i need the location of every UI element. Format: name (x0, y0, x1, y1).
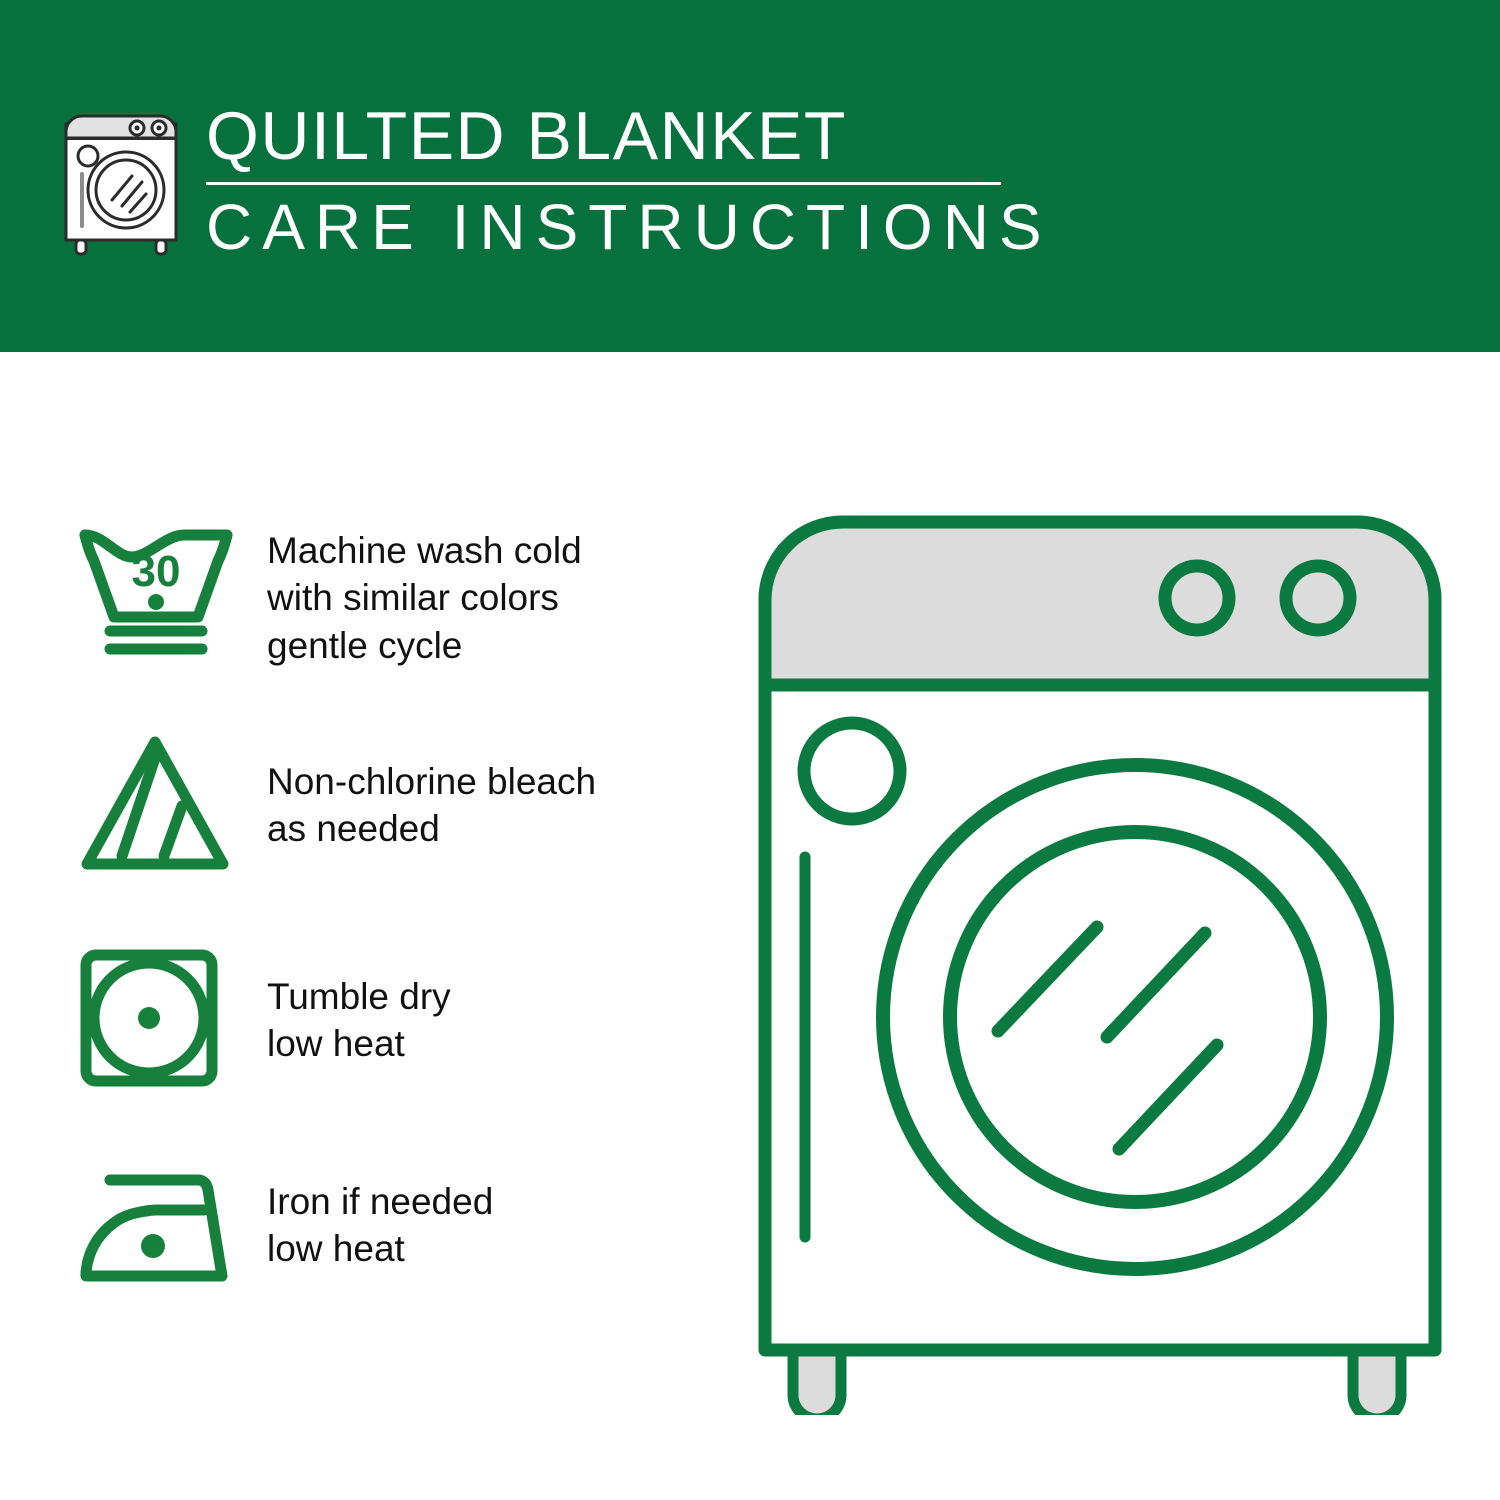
header-title-group: QUILTED BLANKET CARE INSTRUCTIONS (204, 98, 1060, 259)
list-item: 30 Machine wash cold with similar colors… (70, 505, 730, 720)
washing-machine-icon (60, 98, 182, 260)
page-subtitle: CARE INSTRUCTIONS (204, 195, 1060, 259)
list-item: Tumble dry low heat (70, 935, 730, 1150)
header-banner: QUILTED BLANKET CARE INSTRUCTIONS (0, 0, 1500, 352)
list-item-label: Iron if needed low heat (245, 1150, 730, 1273)
list-item-label: Tumble dry low heat (245, 935, 730, 1068)
page-title: QUILTED BLANKET (204, 102, 1060, 170)
care-instructions-page: QUILTED BLANKET CARE INSTRUCTIONS 30 (0, 0, 1500, 1500)
wash-tub-30-gentle-icon: 30 (70, 505, 245, 670)
wash-temperature-label: 30 (132, 547, 181, 596)
care-instruction-list: 30 Machine wash cold with similar colors… (70, 505, 730, 1365)
tumble-dry-low-heat-icon (70, 935, 245, 1100)
list-item: Non-chlorine bleach as needed (70, 720, 730, 935)
title-divider (206, 182, 1001, 185)
header-content: QUILTED BLANKET CARE INSTRUCTIONS (60, 98, 1060, 273)
list-item-label: Machine wash cold with similar colors ge… (245, 505, 730, 669)
list-item-label: Non-chlorine bleach as needed (245, 720, 730, 853)
non-chlorine-bleach-triangle-icon (70, 720, 245, 885)
list-item: Iron if needed low heat (70, 1150, 730, 1365)
front-load-washing-machine-illustration (745, 495, 1455, 1415)
iron-low-heat-icon (70, 1150, 245, 1315)
